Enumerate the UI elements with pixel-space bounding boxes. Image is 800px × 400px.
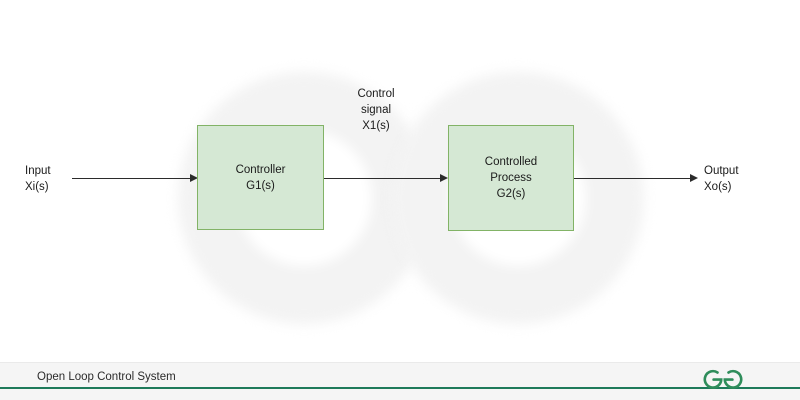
block-process-line2: Process — [490, 170, 532, 186]
arrowhead-output-icon — [690, 174, 698, 182]
control-signal-label: Control signal X1(s) — [340, 86, 412, 134]
output-label-name: Output — [704, 163, 739, 179]
output-label: Output Xo(s) — [704, 163, 739, 195]
control-signal-line1: Control — [340, 86, 412, 102]
input-label-name: Input — [25, 163, 51, 179]
block-process-line1: Controlled — [485, 154, 537, 170]
geeksforgeeks-logo — [697, 363, 749, 393]
footer-divider — [0, 387, 800, 389]
block-controlled-process: Controlled Process G2(s) — [448, 125, 574, 231]
connector-process-to-output — [574, 178, 691, 179]
connector-controller-to-process — [324, 178, 441, 179]
control-signal-line2: signal — [340, 102, 412, 118]
block-process-line3: G2(s) — [497, 186, 526, 202]
block-controller: Controller G1(s) — [197, 125, 324, 230]
arrowhead-middle-icon — [440, 174, 448, 182]
block-controller-line1: Controller — [236, 162, 286, 178]
control-signal-symbol: X1(s) — [340, 118, 412, 134]
figure-caption: Open Loop Control System — [37, 371, 176, 383]
block-controller-line2: G1(s) — [246, 178, 275, 194]
input-label-symbol: Xi(s) — [25, 179, 51, 195]
footer-band: Open Loop Control System — [0, 362, 800, 400]
input-label: Input Xi(s) — [25, 163, 51, 195]
output-label-symbol: Xo(s) — [704, 179, 739, 195]
connector-input-to-controller — [72, 178, 191, 179]
diagram-canvas: Input Xi(s) Controller G1(s) Control sig… — [0, 0, 800, 400]
